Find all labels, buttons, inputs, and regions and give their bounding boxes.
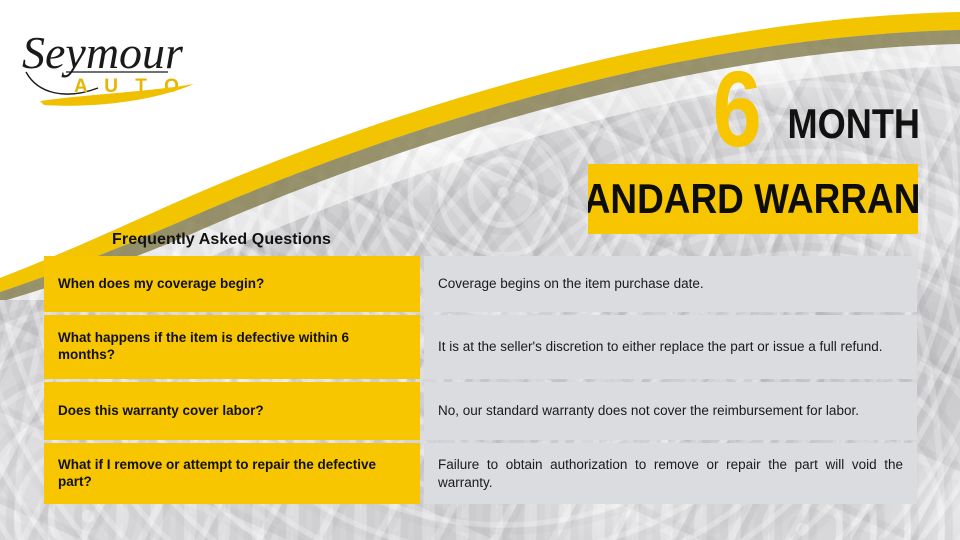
faq-answer: It is at the seller's discretion to eith… bbox=[424, 315, 917, 379]
logo-wordmark: Seymour bbox=[22, 27, 184, 78]
seymour-auto-logo: Seymour A U T O bbox=[18, 16, 208, 111]
duration-number: 6 bbox=[712, 55, 760, 163]
standard-warranty-banner: STANDARD WARRANTY bbox=[588, 164, 918, 234]
table-row: What happens if the item is defective wi… bbox=[44, 315, 917, 379]
faq-question: What if I remove or attempt to repair th… bbox=[44, 443, 420, 504]
standard-warranty-label: STANDARD WARRANTY bbox=[588, 178, 918, 220]
faq-answer: Coverage begins on the item purchase dat… bbox=[424, 256, 917, 312]
table-row: Does this warranty cover labor? No, our … bbox=[44, 382, 917, 440]
faq-question: What happens if the item is defective wi… bbox=[44, 315, 420, 379]
faq-answer: No, our standard warranty does not cover… bbox=[424, 382, 917, 440]
faq-heading: Frequently Asked Questions bbox=[112, 231, 331, 249]
table-row: When does my coverage begin? Coverage be… bbox=[44, 256, 917, 312]
warranty-slide: Seymour A U T O 6 MONTH STANDARD WARRANT… bbox=[0, 0, 960, 540]
table-row: What if I remove or attempt to repair th… bbox=[44, 443, 917, 504]
faq-question: Does this warranty cover labor? bbox=[44, 382, 420, 440]
duration-badge: 6 MONTH bbox=[585, 52, 920, 157]
faq-table: When does my coverage begin? Coverage be… bbox=[44, 256, 917, 504]
faq-answer: Failure to obtain authorization to remov… bbox=[424, 443, 917, 504]
duration-unit-label: MONTH bbox=[788, 103, 920, 145]
faq-question: When does my coverage begin? bbox=[44, 256, 420, 312]
